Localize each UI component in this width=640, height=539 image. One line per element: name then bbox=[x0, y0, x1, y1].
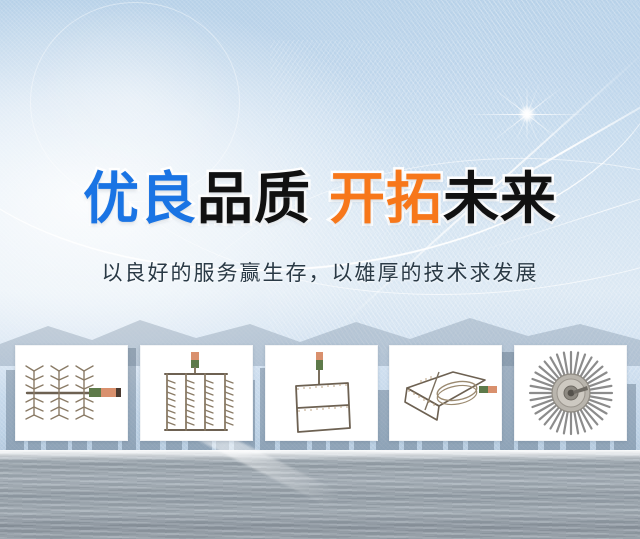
product-card-comb-rack-hanger[interactable]: 电镀挂具 梳状挂架 bbox=[15, 345, 128, 441]
ground-highlight-edge bbox=[0, 450, 640, 460]
headline-segment-4: 未来 bbox=[443, 167, 557, 232]
radial-star-hub-icon bbox=[527, 349, 615, 437]
multi-row-spike-rack-icon bbox=[155, 350, 237, 436]
product-card-flat-frame-rack[interactable]: 电镀挂具 平板框架挂架 bbox=[265, 345, 378, 441]
headline-segment-1: 优良 bbox=[83, 167, 197, 232]
product-card-radial-star-hub[interactable]: 电镀挂具 放射状星型轮盘 bbox=[514, 345, 627, 441]
headline-segment-2: 品质 bbox=[197, 167, 311, 232]
promo-banner: 优良品质开拓未来 以良好的服务赢生存，以雄厚的技术求发展 电镀挂具 梳状挂架 bbox=[0, 0, 640, 539]
product-card-ring-frame-rack[interactable]: 电镀挂具 圆环框架挂架 bbox=[389, 345, 502, 441]
product-card-multi-row-spike-rack[interactable]: 电镀挂具 多排针式挂架 bbox=[140, 345, 253, 441]
ring-frame-rack-icon bbox=[395, 358, 497, 428]
concrete-ground bbox=[0, 450, 640, 539]
page-title: 优良品质开拓未来 bbox=[0, 168, 640, 232]
comb-rack-hanger-icon bbox=[19, 353, 124, 433]
product-card-list: 电镀挂具 梳状挂架 bbox=[15, 345, 627, 441]
page-subtitle: 以良好的服务赢生存，以雄厚的技术求发展 bbox=[0, 258, 640, 288]
headline-segment-3: 开拓 bbox=[329, 167, 443, 232]
flat-frame-rack-icon bbox=[282, 350, 360, 436]
